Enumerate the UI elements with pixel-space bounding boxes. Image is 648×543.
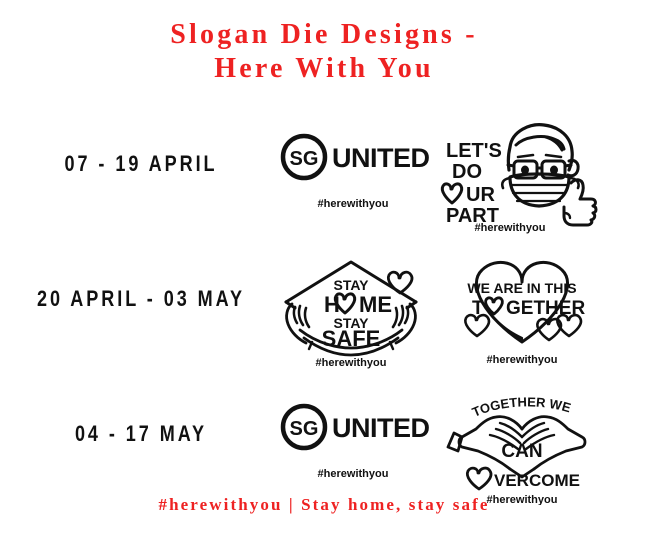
heart-outline-icon	[442, 184, 461, 203]
slogan-line-2: DO	[452, 161, 482, 183]
design-sg-united-row-1[interactable]: SG UNITED #herewithyou	[268, 115, 438, 235]
design-together-we-can-overcome[interactable]: TOGETHER WE CAN VERCOME #herewithyou	[438, 385, 608, 505]
design-row-1: 07 - 19 APRIL SG UNITED #herewithyou	[0, 115, 648, 235]
slogan-line-1: STAY	[333, 277, 369, 293]
date-label-row-2: 20 APRIL - 03 MAY	[25, 286, 256, 312]
slogan-line-1: LET'S	[446, 140, 502, 162]
slogan-line-3: UR	[466, 184, 495, 206]
hashtag-caption: #herewithyou	[475, 222, 546, 234]
slogan-line-4: SAFE	[322, 326, 381, 351]
hashtag-caption: #herewithyou	[487, 354, 558, 366]
sg-united-logo-icon: SG UNITED	[283, 136, 430, 178]
slogan-line-3: VERCOME	[494, 471, 580, 490]
slogan-line-2-right: ME	[359, 292, 392, 317]
page-title: Slogan Die Designs - Here With You	[0, 18, 648, 86]
sg-badge-text: SG	[290, 418, 319, 440]
slogan-line-2-right: GETHER	[506, 298, 585, 319]
sg-united-wordmark: UNITED	[332, 413, 430, 443]
heart-outline-icon	[388, 272, 412, 293]
page-title-line-2: Here With You	[0, 52, 648, 86]
masked-face-thumbs-up-icon	[502, 125, 596, 225]
hashtag-caption: #herewithyou	[318, 468, 389, 480]
heart-outline-icon	[467, 468, 491, 489]
hashtag-caption: #herewithyou	[316, 357, 387, 369]
design-row-2: 20 APRIL - 03 MAY	[0, 250, 648, 370]
date-label-row-3: 04 - 17 MAY	[25, 421, 256, 447]
slogan-line-1: TOGETHER WE	[470, 394, 573, 419]
slogan-line-2-left: T	[472, 298, 484, 319]
design-sg-united-row-3[interactable]: SG UNITED #herewithyou	[268, 385, 438, 505]
slogan-line-1: WE ARE IN THIS	[467, 280, 576, 296]
slogan-die-designs-poster: Slogan Die Designs - Here With You 07 - …	[0, 0, 648, 543]
slogan-line-2: CAN	[501, 441, 542, 462]
footer-tagline: #herewithyou | Stay home, stay safe	[0, 495, 648, 515]
sg-united-wordmark: UNITED	[332, 143, 430, 173]
sg-badge-text: SG	[290, 148, 319, 170]
hashtag-caption: #herewithyou	[318, 198, 389, 210]
design-row-3: 04 - 17 MAY SG UNITED #herewithyou	[0, 385, 648, 505]
page-title-line-1: Slogan Die Designs -	[0, 18, 648, 52]
sg-united-logo-icon: SG UNITED	[283, 406, 430, 448]
design-lets-do-our-part[interactable]: LET'S DO UR PART #herewithyou	[438, 115, 608, 235]
footer: #herewithyou | Stay home, stay safe	[0, 495, 648, 515]
date-label-row-1: 07 - 19 APRIL	[25, 151, 256, 177]
slogan-line-1-text: TOGETHER WE	[470, 394, 573, 419]
design-stay-home-stay-safe[interactable]: STAY H ME STAY SAFE #herewithyou	[268, 250, 438, 370]
design-we-are-in-this-together[interactable]: WE ARE IN THIS T GETHER #herewithyou	[438, 250, 608, 370]
